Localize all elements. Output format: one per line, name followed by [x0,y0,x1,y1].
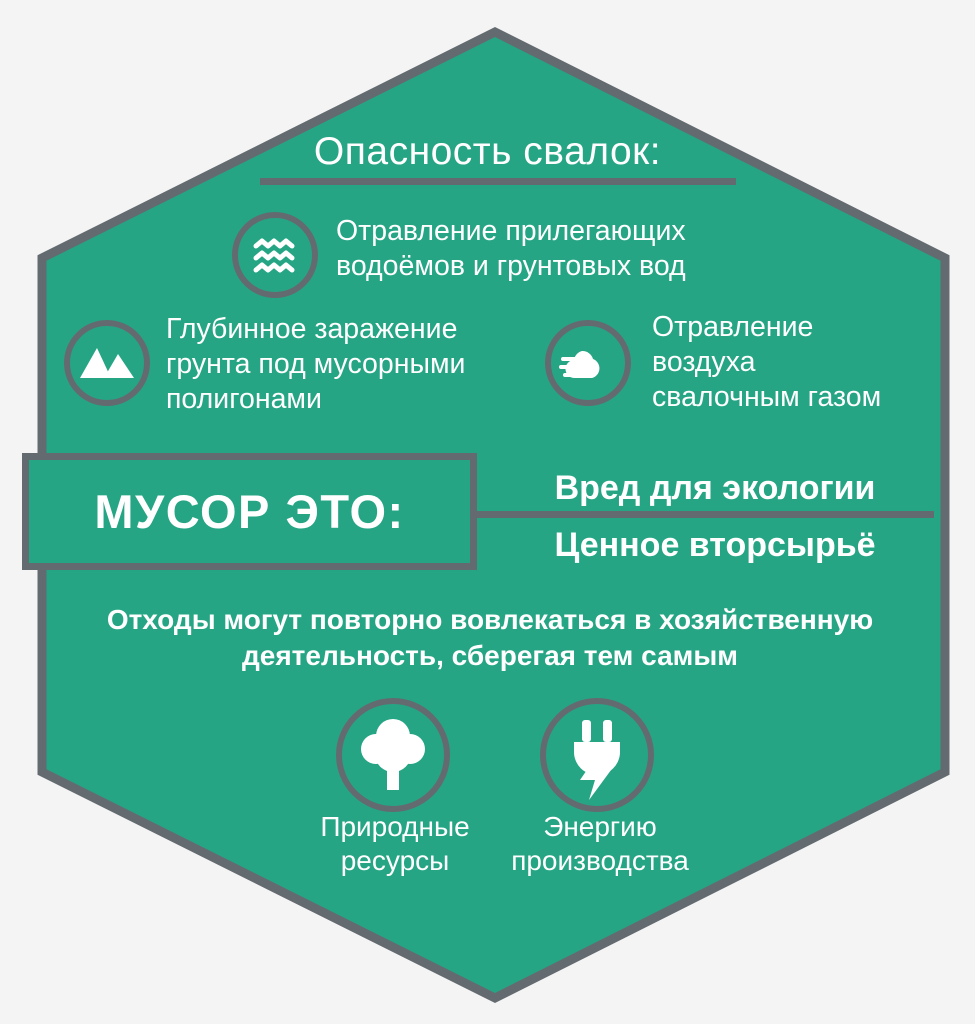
danger-text-water: Отравление прилегающих водоёмов и грунто… [336,214,766,284]
benefit-label-energy: Энергию производства [480,810,720,878]
claims-divider [474,511,934,518]
mountains-icon [64,320,150,406]
benefit-label-resources: Природные ресурсы [275,810,515,878]
water-waves-icon [232,212,318,298]
body-copy: Отходы могут повторно вовлекаться в хозя… [60,602,920,674]
power-plug-bolt-icon [540,698,654,812]
claim-resource: Ценное вторсырьё [500,525,930,566]
title-underline [260,178,736,185]
page-title: Опасность свалок: [0,128,975,176]
tree-icon [336,698,450,812]
danger-text-air: Отравление воздуха свалочным газом [652,310,952,414]
callout-label: МУСОР ЭТО: [22,453,477,570]
smog-cloud-icon [545,320,631,406]
danger-text-soil: Глубинное заражение грунта под мусорными… [166,312,546,416]
infographic-root: Опасность свалок: Отравление прилегающих… [0,0,975,1024]
claim-harm: Вред для экологии [500,468,930,509]
